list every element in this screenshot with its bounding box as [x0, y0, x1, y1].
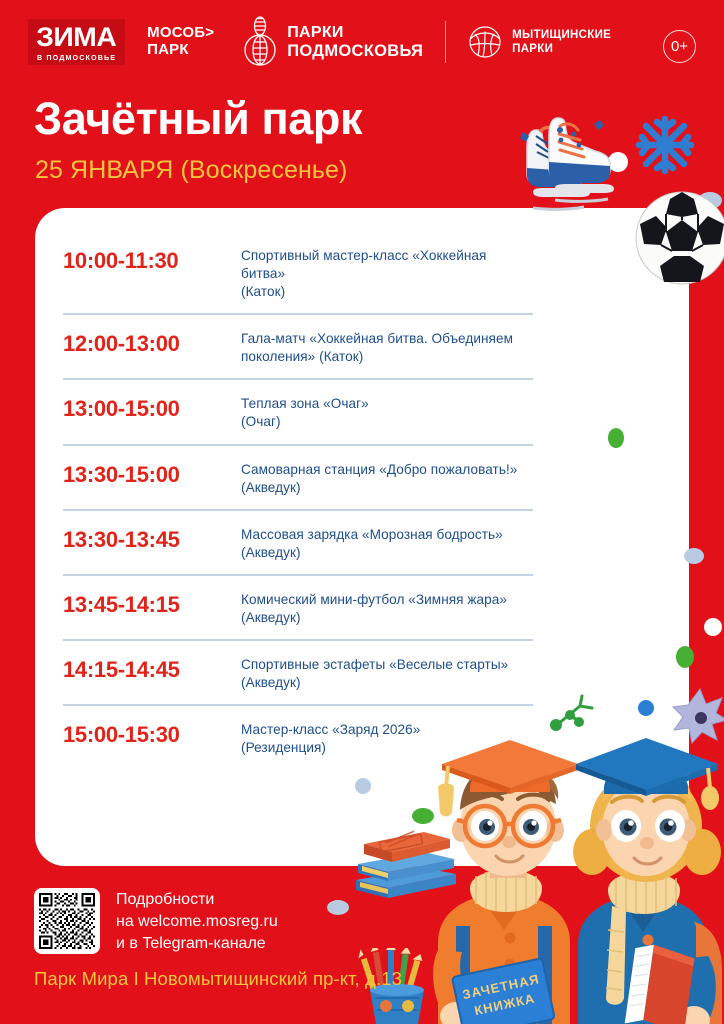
- schedule-list: 10:00-11:30Спортивный мастер-класс «Хокк…: [63, 232, 533, 769]
- mytishchi-emblem-icon: [466, 23, 504, 61]
- schedule-row-venue: (Акведук): [241, 479, 517, 497]
- logo-myt-text: МЫТИЩИНСКИЕ ПАРКИ: [512, 28, 611, 57]
- schedule-row-venue: (Резиденция): [241, 739, 420, 757]
- schedule-row: 13:00-15:00Теплая зона «Очаг»(Очаг): [63, 378, 533, 443]
- schedule-row-venue: (Акведук): [241, 609, 507, 627]
- svg-text:ЗАЧЕТНАЯ: ЗАЧЕТНАЯ: [461, 971, 541, 1002]
- logo-bar: ЗИМА В ПОДМОСКОВЬЕ МОСОБ> ПАРК: [0, 0, 724, 84]
- schedule-row-time: 13:45-14:15: [63, 589, 241, 618]
- schedule-row-time: 13:30-13:45: [63, 524, 241, 553]
- dot-white-1: [608, 152, 628, 172]
- dot-lightblue-3: [327, 900, 349, 915]
- schedule-row-time: 13:30-15:00: [63, 459, 241, 488]
- schedule-row-title: Массовая зарядка «Морозная бодрость»: [241, 527, 503, 542]
- logo-zima-sub-text: В ПОДМОСКОВЬЕ: [37, 54, 116, 61]
- page-subtitle-date: 25 ЯНВАРЯ (Воскресенье): [35, 156, 347, 185]
- schedule-row-title: Спортивные эстафеты «Веселые старты»: [241, 657, 508, 672]
- schedule-row: 12:00-13:00Гала-матч «Хоккейная битва. О…: [63, 313, 533, 378]
- footer-details-text: Подробности на welcome.mosreg.ru и в Tel…: [116, 888, 278, 955]
- schedule-row-venue: (Каток): [241, 283, 533, 301]
- schedule-row-venue: (Очаг): [241, 413, 369, 431]
- logo-divider: [445, 21, 446, 63]
- schedule-row-description: Гала-матч «Хоккейная битва. Объединяем п…: [241, 328, 533, 366]
- logo-mosob-line1: МОСОБ>: [147, 25, 214, 42]
- schedule-row-description: Теплая зона «Очаг»(Очаг): [241, 393, 369, 431]
- schedule-row-description: Самоварная станция «Добро пожаловать!»(А…: [241, 459, 517, 497]
- logo-parki-podmoskovya: ПАРКИ ПОДМОСКОВЬЯ: [240, 16, 423, 68]
- schedule-row-venue: (Акведук): [241, 674, 508, 692]
- schedule-row-title: Гала-матч «Хоккейная битва. Объединяем п…: [241, 331, 513, 364]
- svg-text:КНИЖКА: КНИЖКА: [473, 991, 537, 1019]
- poster-root: ЗИМА В ПОДМОСКОВЬЕ МОСОБ> ПАРК: [0, 0, 724, 1024]
- footer-line-2: на welcome.mosreg.ru: [116, 911, 278, 933]
- logo-mytishchinskie-parki: МЫТИЩИНСКИЕ ПАРКИ: [466, 23, 611, 61]
- logo-parki-line2: ПОДМОСКОВЬЯ: [287, 42, 423, 60]
- schedule-row: 13:30-13:45Массовая зарядка «Морозная бо…: [63, 509, 533, 574]
- dot-lightblue-1: [698, 192, 722, 209]
- schedule-row-description: Мастер-класс «Заряд 2026»(Резиденция): [241, 719, 420, 757]
- page-title: Зачётный парк: [34, 96, 362, 141]
- footer-line-1: Подробности: [116, 889, 278, 911]
- schedule-row-venue: (Акведук): [241, 544, 503, 562]
- schedule-row-description: Спортивные эстафеты «Веселые старты»(Акв…: [241, 654, 508, 692]
- schedule-row: 10:00-11:30Спортивный мастер-класс «Хокк…: [63, 232, 533, 313]
- logo-myt-line2: ПАРКИ: [512, 42, 611, 56]
- ice-skates-icon: [500, 96, 620, 226]
- logo-myt-line1: МЫТИЩИНСКИЕ: [512, 28, 611, 42]
- logo-zima-main-text: ЗИМА: [37, 24, 117, 51]
- schedule-row-time: 12:00-13:00: [63, 328, 241, 357]
- qr-code[interactable]: [34, 888, 100, 954]
- schedule-row: 15:00-15:30Мастер-класс «Заряд 2026»(Рез…: [63, 704, 533, 769]
- schedule-row-title: Спортивный мастер-класс «Хоккейная битва…: [241, 248, 486, 281]
- schedule-row: 13:45-14:15Комический мини-футбол «Зимня…: [63, 574, 533, 639]
- schedule-row-time: 15:00-15:30: [63, 719, 241, 748]
- schedule-row-time: 13:00-15:00: [63, 393, 241, 422]
- pine-cone-icon: [240, 16, 280, 68]
- schedule-row-title: Комический мини-футбол «Зимняя жара»: [241, 592, 507, 607]
- schedule-row: 14:15-14:45Спортивные эстафеты «Веселые …: [63, 639, 533, 704]
- schedule-row-title: Мастер-класс «Заряд 2026»: [241, 722, 420, 737]
- schedule-row: 13:30-15:00Самоварная станция «Добро пож…: [63, 444, 533, 509]
- dot-white-2: [704, 618, 722, 636]
- snowflake-icon: [632, 112, 698, 178]
- footer-details-block: Подробности на welcome.mosreg.ru и в Tel…: [34, 888, 278, 955]
- schedule-card: 10:00-11:30Спортивный мастер-класс «Хокк…: [35, 208, 689, 866]
- venue-address: Парк Мира I Новомытищинский пр-кт, д.13: [34, 968, 402, 990]
- schedule-row-title: Теплая зона «Очаг»: [241, 396, 369, 411]
- logo-zima: ЗИМА В ПОДМОСКОВЬЕ: [28, 19, 125, 65]
- age-rating-badge: 0+: [663, 30, 696, 63]
- logo-parki-line1: ПАРКИ: [287, 24, 423, 42]
- footer-line-3: и в Telegram-канале: [116, 933, 278, 955]
- schedule-row-description: Массовая зарядка «Морозная бодрость»(Акв…: [241, 524, 503, 562]
- schedule-row-description: Комический мини-футбол «Зимняя жара»(Акв…: [241, 589, 507, 627]
- logo-parki-text: ПАРКИ ПОДМОСКОВЬЯ: [287, 24, 423, 60]
- schedule-row-time: 10:00-11:30: [63, 245, 241, 274]
- schedule-row-title: Самоварная станция «Добро пожаловать!»: [241, 462, 517, 477]
- schedule-row-description: Спортивный мастер-класс «Хоккейная битва…: [241, 245, 533, 301]
- schedule-row-time: 14:15-14:45: [63, 654, 241, 683]
- logo-mosob-park: МОСОБ> ПАРК: [147, 25, 214, 59]
- logo-mosob-line2: ПАРК: [147, 42, 214, 59]
